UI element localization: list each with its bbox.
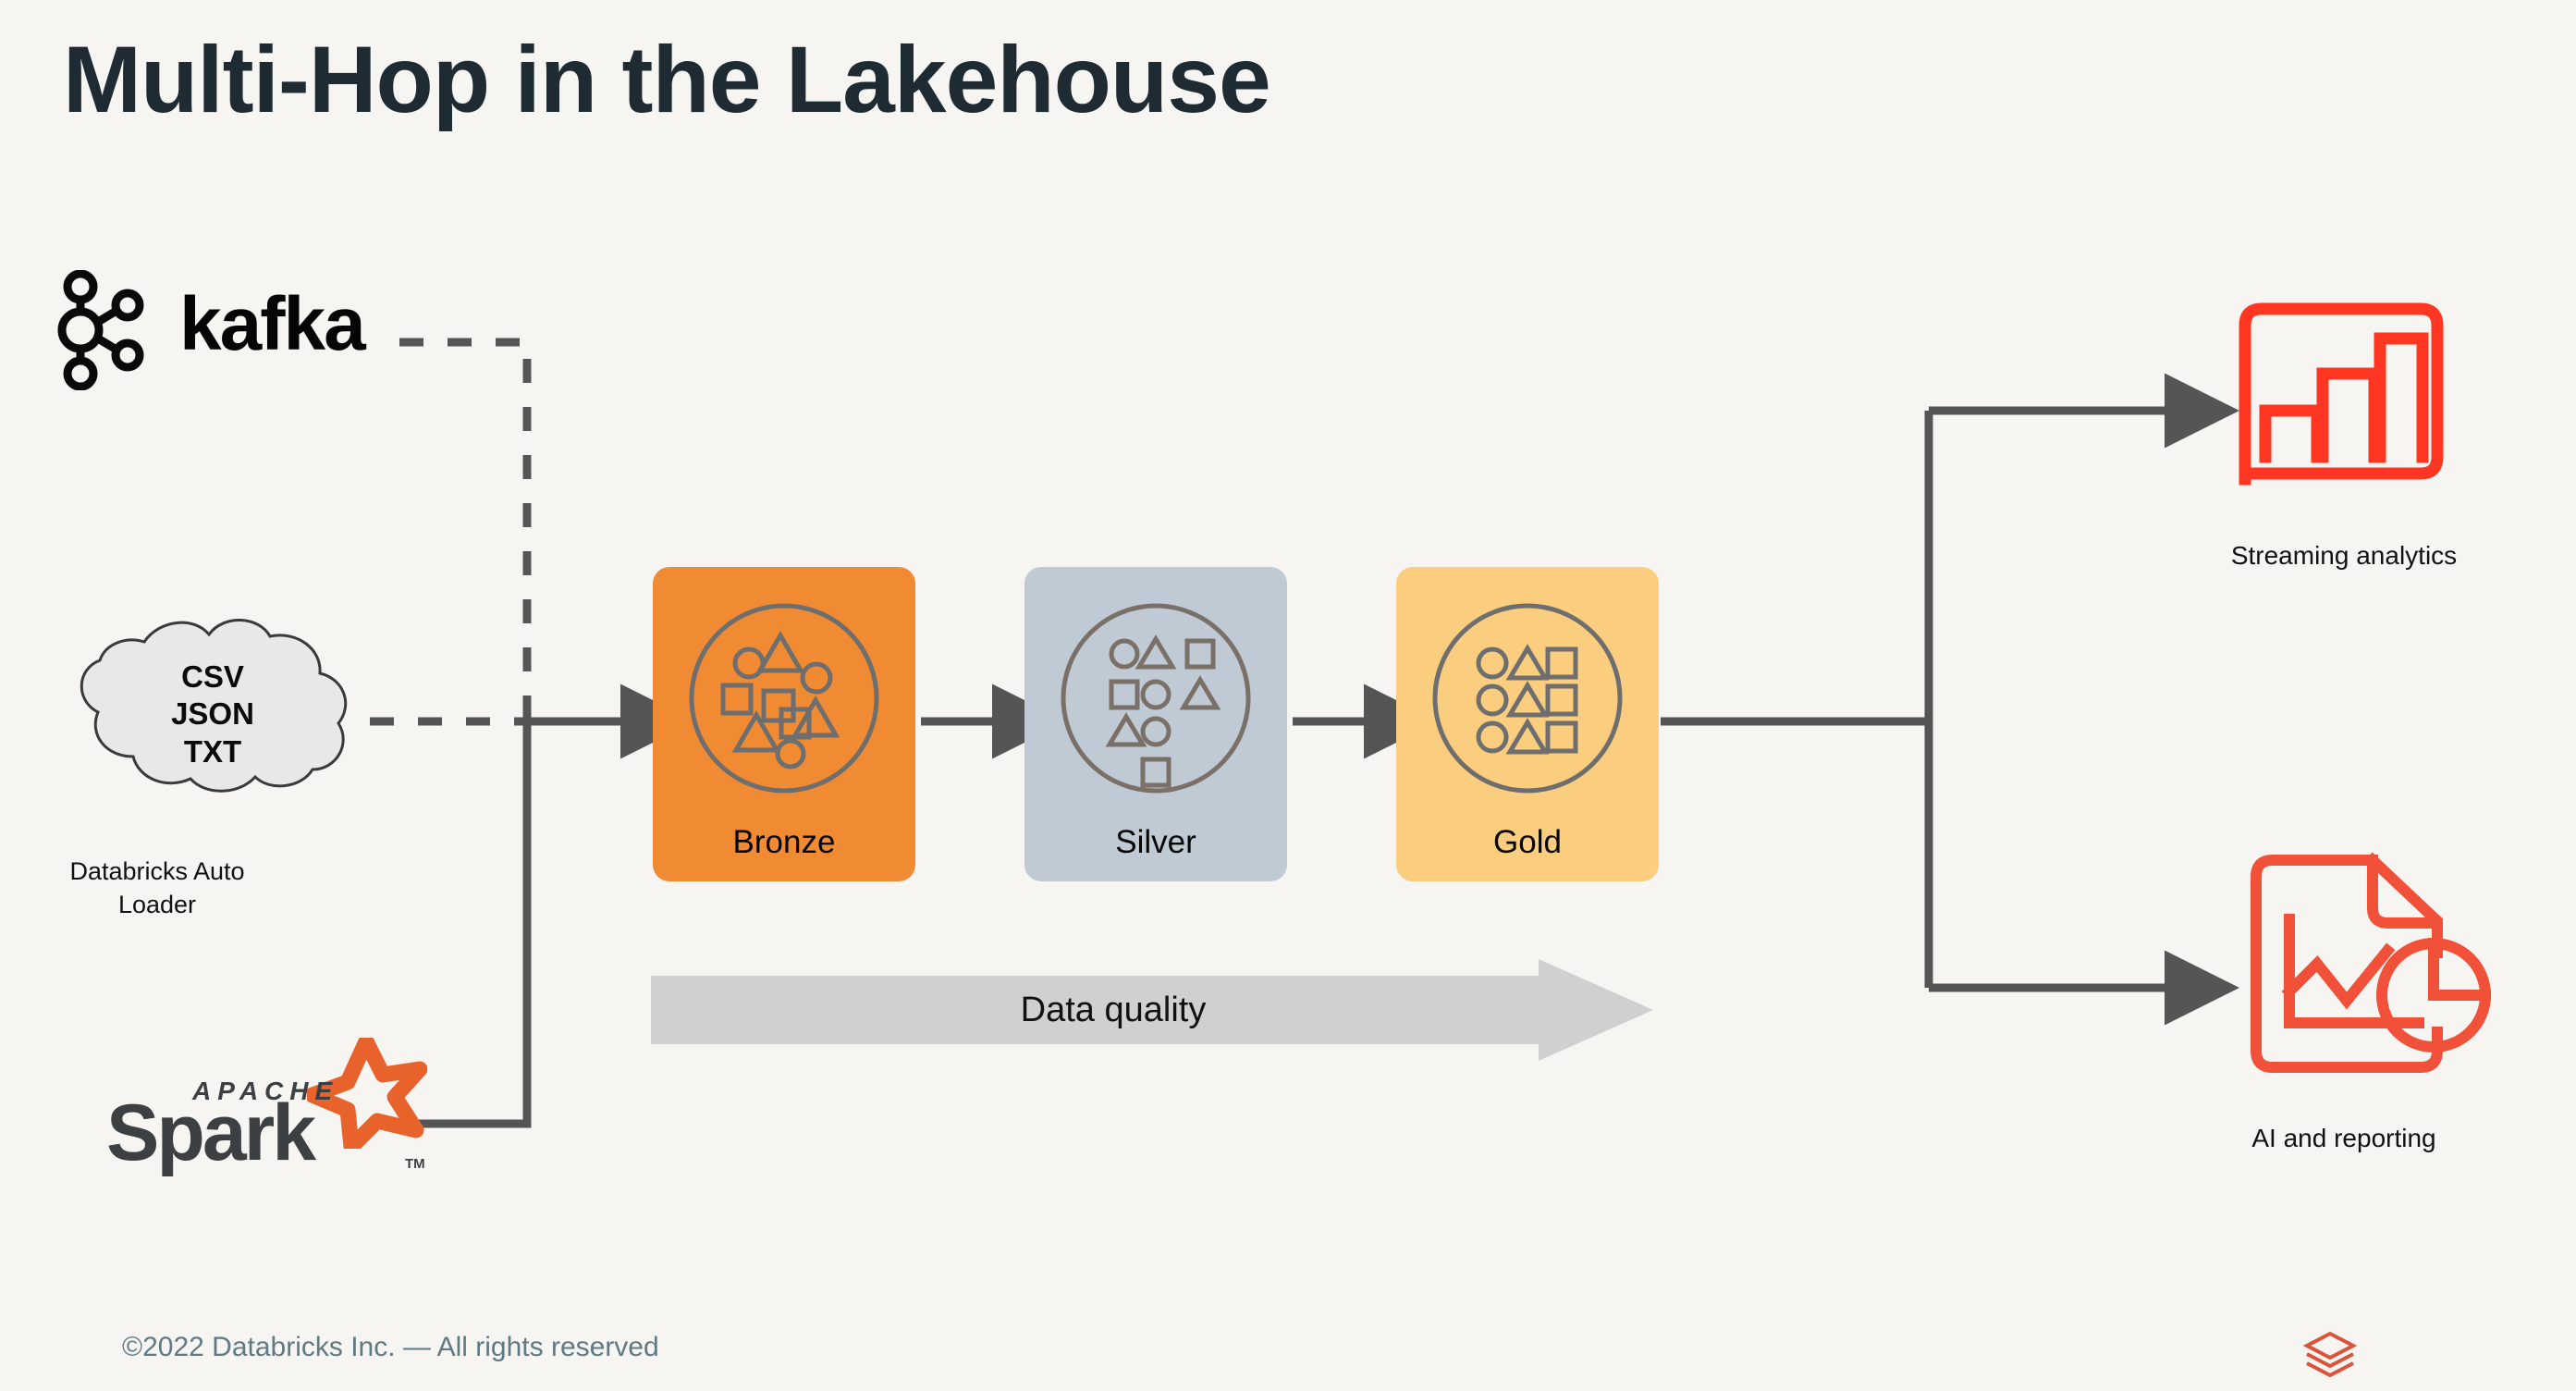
slide-canvas: Multi-Hop in the Lakehouse xyxy=(0,0,2576,1391)
output-streaming-analytics[interactable] xyxy=(2238,298,2450,511)
kafka-label: kafka xyxy=(179,287,364,363)
stage-silver-label: Silver xyxy=(1024,824,1287,861)
stage-silver[interactable]: Silver xyxy=(1024,567,1287,881)
file-type-csv: CSV xyxy=(55,659,370,695)
spark-label: Spark xyxy=(106,1093,313,1173)
stage-bronze[interactable]: Bronze xyxy=(653,567,915,881)
document-chart-pie-icon xyxy=(2238,851,2506,1101)
streaming-analytics-caption: Streaming analytics xyxy=(2154,541,2533,571)
stage-gold[interactable]: Gold xyxy=(1396,567,1659,881)
semi-ordered-shapes-icon xyxy=(1054,597,1257,800)
source-spark: APACHE Spark TM xyxy=(55,1054,407,1184)
wire-kafka xyxy=(399,342,527,720)
page-title: Multi-Hop in the Lakehouse xyxy=(63,26,1270,134)
spark-trademark: TM xyxy=(405,1156,425,1172)
source-kafka: kafka xyxy=(55,270,407,390)
file-type-json: JSON xyxy=(55,695,370,732)
stage-gold-label: Gold xyxy=(1396,824,1659,861)
grid-shapes-icon xyxy=(1426,597,1629,800)
footer-copyright: ©2022 Databricks Inc. — All rights reser… xyxy=(122,1332,659,1363)
auto-loader-caption: Databricks Auto Loader xyxy=(51,856,264,921)
data-quality-arrow: Data quality xyxy=(651,959,1653,1061)
stage-bronze-label: Bronze xyxy=(653,824,915,861)
output-ai-reporting[interactable] xyxy=(2238,851,2506,1101)
data-quality-label: Data quality xyxy=(651,959,1576,1061)
bar-chart-icon xyxy=(2238,298,2450,511)
scattered-shapes-icon xyxy=(682,597,886,800)
file-type-txt: TXT xyxy=(55,733,370,770)
source-auto-loader: CSV JSON TXT xyxy=(55,610,370,805)
file-types-label: CSV JSON TXT xyxy=(55,659,370,770)
databricks-layers-icon xyxy=(2302,1328,2358,1380)
ai-reporting-caption: AI and reporting xyxy=(2154,1124,2533,1153)
kafka-node-graph-icon xyxy=(55,270,157,390)
